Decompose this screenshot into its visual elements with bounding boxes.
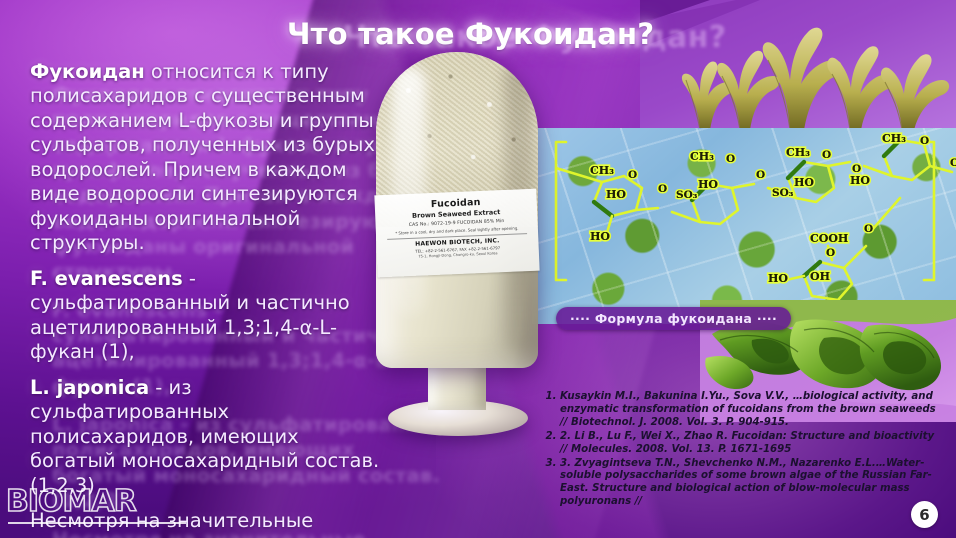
svg-text:O: O xyxy=(628,169,637,181)
svg-text:O: O xyxy=(822,149,831,161)
fucoidan-formula-panel: CH₃ CH₃ CH₃ CH₃ CH₃ CH₃ CH₃ CH₃ O O O O … xyxy=(532,128,956,324)
svg-text:COOH: COOH xyxy=(810,232,848,245)
svg-text:CH₃: CH₃ xyxy=(590,164,614,177)
page-number-badge: 6 xyxy=(911,501,938,528)
svg-text:O: O xyxy=(950,157,956,169)
svg-text:OH: OH xyxy=(810,270,830,283)
body-paragraph-3: L. japonica - из сульфатированных полиса… xyxy=(30,376,390,498)
body-p1-rest: относится к типу полисахаридов с существ… xyxy=(30,60,375,254)
body-p1-lead: Фукоидан xyxy=(30,60,145,83)
product-label-title: Fucoidan xyxy=(431,197,481,210)
formula-caption: ···· Формула фукоидана ···· xyxy=(556,307,791,330)
jar-neck xyxy=(428,362,486,410)
slide-body-text: Фукоидан относится к типу полисахаридов … xyxy=(30,60,390,538)
reference-item: 3. Zvyagintseva T.N., Shevchenko N.M., N… xyxy=(560,458,938,510)
svg-text:CH₃: CH₃ xyxy=(690,150,714,163)
presentation-slide: Фукоидан относится к типу полисахаридов … xyxy=(0,0,956,538)
body-paragraph-2: F. evanescens - сульфатированный и части… xyxy=(30,267,390,365)
svg-text:O: O xyxy=(826,247,835,259)
svg-text:SO₃: SO₃ xyxy=(676,189,698,201)
body-paragraph-4: Несмотря на значительные структурные раз… xyxy=(30,509,390,538)
svg-text:O: O xyxy=(756,169,765,181)
svg-text:O: O xyxy=(726,153,735,165)
body-paragraph-1: Фукоидан относится к типу полисахаридов … xyxy=(30,60,390,256)
svg-text:HO: HO xyxy=(768,272,788,285)
references-list: Kusaykin M.I., Bakunina I.Yu., Sova V.V.… xyxy=(534,391,938,510)
svg-text:HO: HO xyxy=(590,230,610,243)
svg-text:CH₃: CH₃ xyxy=(882,132,906,145)
svg-text:O: O xyxy=(920,135,929,147)
svg-text:HO: HO xyxy=(850,174,870,187)
svg-text:O: O xyxy=(864,223,873,235)
svg-text:SO₃: SO₃ xyxy=(772,187,794,199)
page-title: Что такое Фукоидан? xyxy=(287,17,654,51)
svg-text:CH₃: CH₃ xyxy=(786,146,810,159)
fucoidan-product-jar: Fucoidan Brown Seaweed Extract CAS No.: … xyxy=(366,52,548,434)
body-p2-lead: F. evanescens xyxy=(30,267,183,290)
body-p3-lead: L. japonica xyxy=(30,376,149,399)
svg-text:O: O xyxy=(658,183,667,195)
reference-item: Kusaykin M.I., Bakunina I.Yu., Sova V.V.… xyxy=(560,391,938,430)
svg-text:HO: HO xyxy=(794,176,814,189)
jar-highlight xyxy=(392,66,426,316)
svg-text:HO: HO xyxy=(606,188,626,201)
svg-text:HO: HO xyxy=(698,178,718,191)
product-label-subtitle: Brown Seaweed Extract xyxy=(412,208,501,220)
reference-item: 2. Li B., Lu F., Wei X., Zhao R. Fucoida… xyxy=(560,431,938,457)
fucoidan-structure-diagram: CH₃ CH₃ CH₃ CH₃ CH₃ CH₃ CH₃ CH₃ O O O O … xyxy=(532,128,956,324)
product-label: Fucoidan Brown Seaweed Extract CAS No.: … xyxy=(374,189,539,278)
